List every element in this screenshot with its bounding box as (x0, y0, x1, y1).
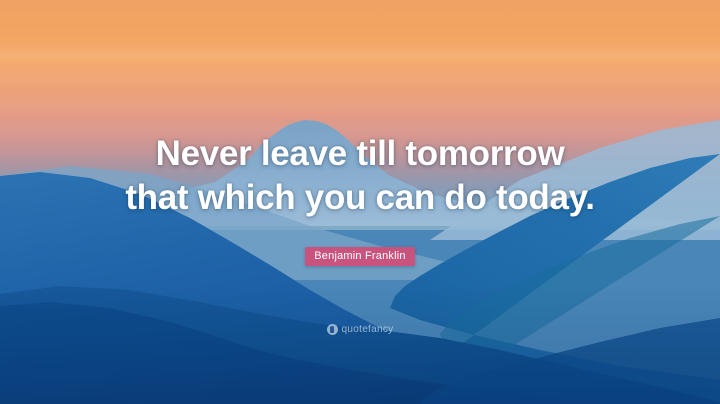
quotefancy-logo-icon (327, 324, 338, 335)
author-attribution: Benjamin Franklin (0, 246, 720, 266)
quote-line-2: that which you can do today. (0, 176, 720, 220)
watermark: quotefancy (0, 322, 720, 340)
author-name-badge[interactable]: Benjamin Franklin (305, 247, 414, 266)
quote-line-1: Never leave till tomorrow (0, 132, 720, 176)
quote-poster: Never leave till tomorrow that which you… (0, 0, 720, 404)
watermark-inner[interactable]: quotefancy (327, 324, 394, 335)
quote-text-block: Never leave till tomorrow that which you… (0, 132, 720, 220)
watermark-brand-text: quotefancy (342, 324, 394, 335)
